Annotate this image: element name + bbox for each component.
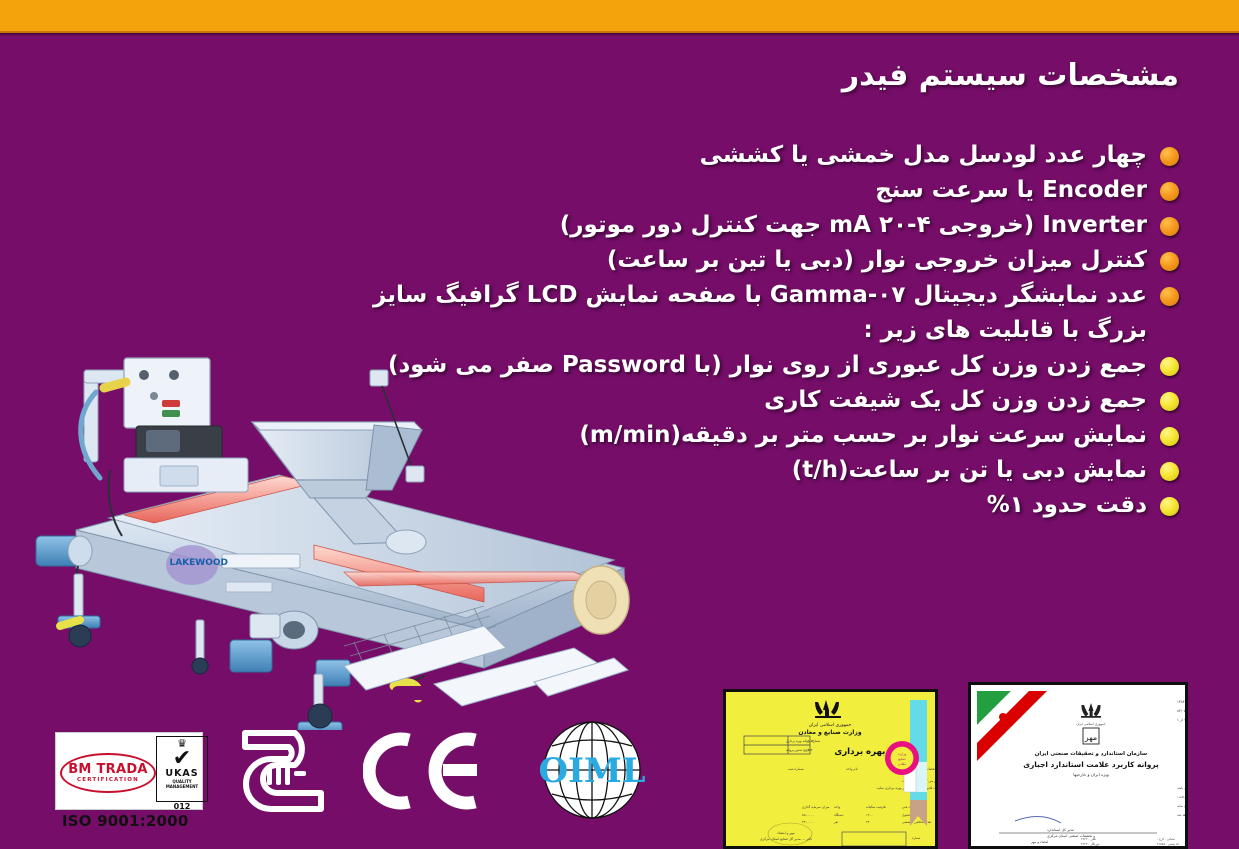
svg-text:وزارت: وزارت — [898, 752, 907, 756]
svg-text:شماره : ۱۳۸۴: شماره : ۱۳۸۴ — [1177, 700, 1185, 704]
list-item-label: چهار عدد لودسل مدل خمشی یا کششی — [700, 142, 1147, 168]
ukas-sub: QUALITY MANAGEMENT — [157, 779, 207, 789]
svg-text:نشانی : کرج -: نشانی : کرج - — [1157, 837, 1175, 841]
svg-text:شماره: شماره — [912, 836, 921, 840]
svg-text:تعداد شاغلین تخصصی: تعداد شاغلین تخصصی — [902, 820, 931, 824]
ukas-name: UKAS — [165, 769, 198, 779]
svg-text:۱۲۰۰: ۱۲۰۰ — [866, 813, 873, 817]
svg-text:میزان سرمایه گذاری: میزان سرمایه گذاری — [802, 805, 830, 809]
svg-text:کد پستی : ۳۱۵۸۵: کد پستی : ۳۱۵۸۵ — [1157, 842, 1179, 846]
product-photo: LAKEWOOD — [14, 330, 674, 730]
list-item-label: دقت حدود ۱% — [987, 492, 1147, 518]
svg-text:جمهوری اسلامی ایران: جمهوری اسلامی ایران — [809, 723, 852, 728]
svg-text:۱۲۰۳۹: ۱۲۰۳۹ — [806, 739, 814, 743]
svg-text:شماره ثبت: شماره ثبت — [788, 767, 804, 771]
cert-title: پروانه کاربرد علامت استاندارد اجباری — [1023, 760, 1159, 769]
svg-text:تاریخ : ۸۴/۰۵/۱۵: تاریخ : ۸۴/۰۵/۱۵ — [1177, 709, 1185, 713]
svg-text:واحد: واحد — [834, 805, 841, 809]
svg-text:تلفن : ۲۲۲۲: تلفن : ۲۲۲۲ — [1081, 837, 1096, 841]
ukas-number: 012 — [156, 802, 208, 811]
bullet-marker-icon — [1160, 217, 1179, 236]
svg-text:دورنگار : ۲۲۲۳: دورنگار : ۲۲۲۳ — [1081, 842, 1100, 846]
list-item: چهار عدد لودسل مدل خمشی یا کششی — [61, 140, 1181, 171]
list-item-label: جمع زدن وزن کل یک شیفت کاری — [764, 387, 1147, 413]
cert-ministry: وزارت صنایع و معادن — [798, 729, 861, 736]
svg-text:صنایع: صنایع — [898, 757, 906, 761]
bullet-marker-icon — [1160, 252, 1179, 271]
top-bar-shadow — [0, 33, 1239, 36]
list-item: Inverter (خروجی ۴-۲۰ mA جهت کنترل دور مو… — [61, 210, 1181, 241]
svg-text:LAKEWOOD: LAKEWOOD — [169, 558, 228, 568]
oiml-logo-text: OIML — [538, 751, 645, 791]
list-item-label: نمایش دبی یا تن بر ساعت(t/h) — [792, 457, 1147, 483]
certification-logo-row: OIML BM TRADA — [55, 718, 667, 823]
list-item: کنترل میزان خروجی نوار (دبی یا تین بر سا… — [61, 245, 1181, 276]
svg-text:مدیر کل استاندارد: مدیر کل استاندارد — [1047, 828, 1074, 832]
svg-text:به موجب این پروانه اجازه داده: به موجب این پروانه اجازه داده می شود تا … — [1177, 804, 1185, 808]
list-item-label: عدد نمایشگر دیجیتال Gamma-۰۷ با صفحه نما… — [373, 282, 1147, 308]
svg-text:۲۴: ۲۴ — [866, 820, 870, 824]
operating-license-certificate: جمهوری اسلامی ایران وزارت صنایع و معادن … — [723, 689, 938, 849]
svg-text:۸۵۰۰۰۰۰: ۸۵۰۰۰۰۰ — [802, 813, 814, 817]
svg-text:۱۳۸۴: ۱۳۸۴ — [806, 748, 813, 752]
bullet-marker-icon — [1160, 182, 1179, 201]
bm-trada-iso-logo: BM TRADA CERTIFICATION ♛ ✔ UKAS QUALITY … — [55, 732, 203, 810]
bullet-marker-icon — [1160, 392, 1179, 411]
isiri-standard-logo — [237, 725, 329, 817]
cert-subtitle: ویژه ایران و خارجیها — [1073, 772, 1109, 777]
svg-text:ظرفیت سالیانه: ظرفیت سالیانه — [866, 805, 887, 809]
top-accent-bar — [0, 0, 1239, 33]
svg-text:کارخانه :: کارخانه : — [1177, 795, 1185, 799]
svg-text:۴۳۰۰۰۰۰: ۴۳۰۰۰۰۰ — [802, 820, 814, 824]
svg-text:دستگاه: دستگاه — [834, 813, 844, 817]
bullet-marker-icon — [1160, 147, 1179, 166]
list-item: Encoder یا سرعت سنج — [61, 175, 1181, 206]
checkmark-icon: ✔ — [173, 749, 191, 769]
svg-text:شماره پروانه بهره برداری: شماره پروانه بهره برداری — [786, 739, 820, 743]
page-title: مشخصات سیستم فیدر — [842, 58, 1179, 93]
oiml-logo: OIML — [517, 718, 667, 823]
list-item-label: کنترل میزان خروجی نوار (دبی یا تین بر سا… — [607, 247, 1147, 273]
svg-text:جمهوری اسلامی ایران: جمهوری اسلامی ایران — [1076, 722, 1106, 726]
list-item-label: بزرگ با قابلیت های زیر : — [863, 317, 1147, 343]
svg-text:دکتر ... مدیر کل صنایع استان م: دکتر ... مدیر کل صنایع استان مرکزی — [760, 837, 813, 841]
bullet-marker-icon — [1160, 357, 1179, 376]
svg-text:پیوست : ندارد صفحه ۱ از ۱: پیوست : ندارد صفحه ۱ از ۱ — [1177, 718, 1185, 722]
bm-trada-name: BM TRADA — [68, 763, 148, 776]
list-item-label: Encoder یا سرعت سنج — [875, 177, 1147, 203]
cert-organization: سازمان استاندارد و تحقیقات صنعتی ایران — [1035, 751, 1147, 757]
bm-trada-badge: BM TRADA CERTIFICATION — [60, 753, 156, 793]
bm-trada-sub: CERTIFICATION — [77, 778, 139, 784]
svg-text:مهر: مهر — [1084, 733, 1097, 742]
svg-text:معادن: معادن — [898, 762, 906, 766]
mandatory-standard-mark-certificate: شماره : ۱۳۸۴ تاریخ : ۸۴/۰۵/۱۵ پیوست : ند… — [968, 682, 1188, 849]
bullet-marker-icon — [1160, 427, 1179, 446]
bullet-marker-icon — [1160, 462, 1179, 481]
ukas-badge: ♛ ✔ UKAS QUALITY MANAGEMENT — [156, 736, 208, 802]
ce-mark-logo — [363, 730, 483, 812]
bullet-marker-icon — [1160, 287, 1179, 306]
iso-standard-label: ISO 9001:2000 — [60, 812, 198, 830]
svg-text:بدینوسیله گواهی می گردد که محص: بدینوسیله گواهی می گردد که محصول تولیدی … — [1177, 786, 1185, 790]
svg-text:مهر و امضاء: مهر و امضاء — [777, 831, 795, 835]
list-item: عدد نمایشگر دیجیتال Gamma-۰۷ با صفحه نما… — [61, 280, 1181, 311]
svg-text:این پروانه تا تاریخ اعتبار دار: این پروانه تا تاریخ اعتبار دارد و طبق مق… — [1177, 813, 1185, 817]
svg-text:نفر: نفر — [833, 820, 838, 824]
list-item-label: Inverter (خروجی ۴-۲۰ mA جهت کنترل دور مو… — [560, 212, 1147, 238]
bullet-marker-icon — [1160, 497, 1179, 516]
svg-text:امضاء و مهر: امضاء و مهر — [1030, 840, 1048, 844]
